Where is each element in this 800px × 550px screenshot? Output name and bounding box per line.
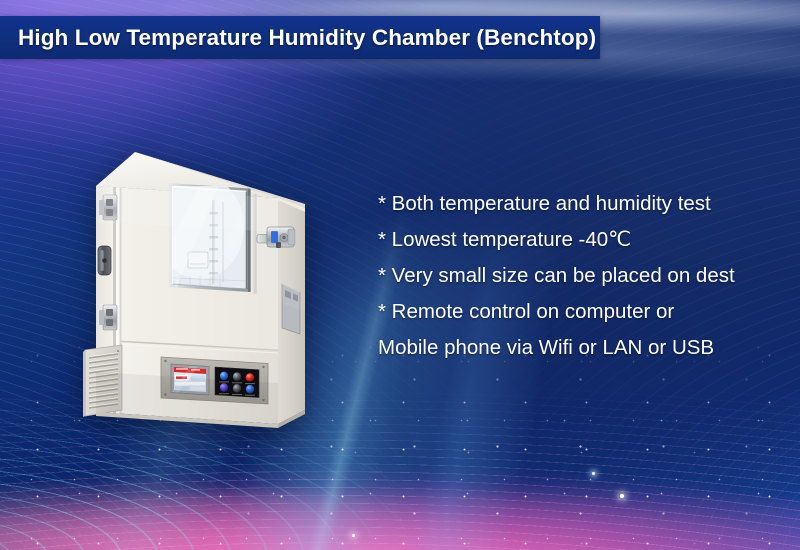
feature-line: * Both temperature and humidity test [378,186,778,222]
light-flare-2 [592,472,595,475]
product-image-chamber [72,142,340,432]
feature-line: Mobile phone via Wifi or LAN or USB [378,330,778,366]
title-banner: High Low Temperature Humidity Chamber (B… [0,16,600,59]
feature-line: * Very small size can be placed on dest [378,258,778,294]
page-title: High Low Temperature Humidity Chamber (B… [0,25,596,51]
feature-list: * Both temperature and humidity test * L… [378,186,778,366]
light-flare-3 [352,534,355,537]
promo-banner-slide: High Low Temperature Humidity Chamber (B… [0,0,800,550]
chamber-door-handle [98,246,111,275]
feature-line: * Remote control on computer or [378,294,778,330]
light-flare-1 [620,494,624,498]
feature-line: * Lowest temperature -40℃ [378,222,778,258]
